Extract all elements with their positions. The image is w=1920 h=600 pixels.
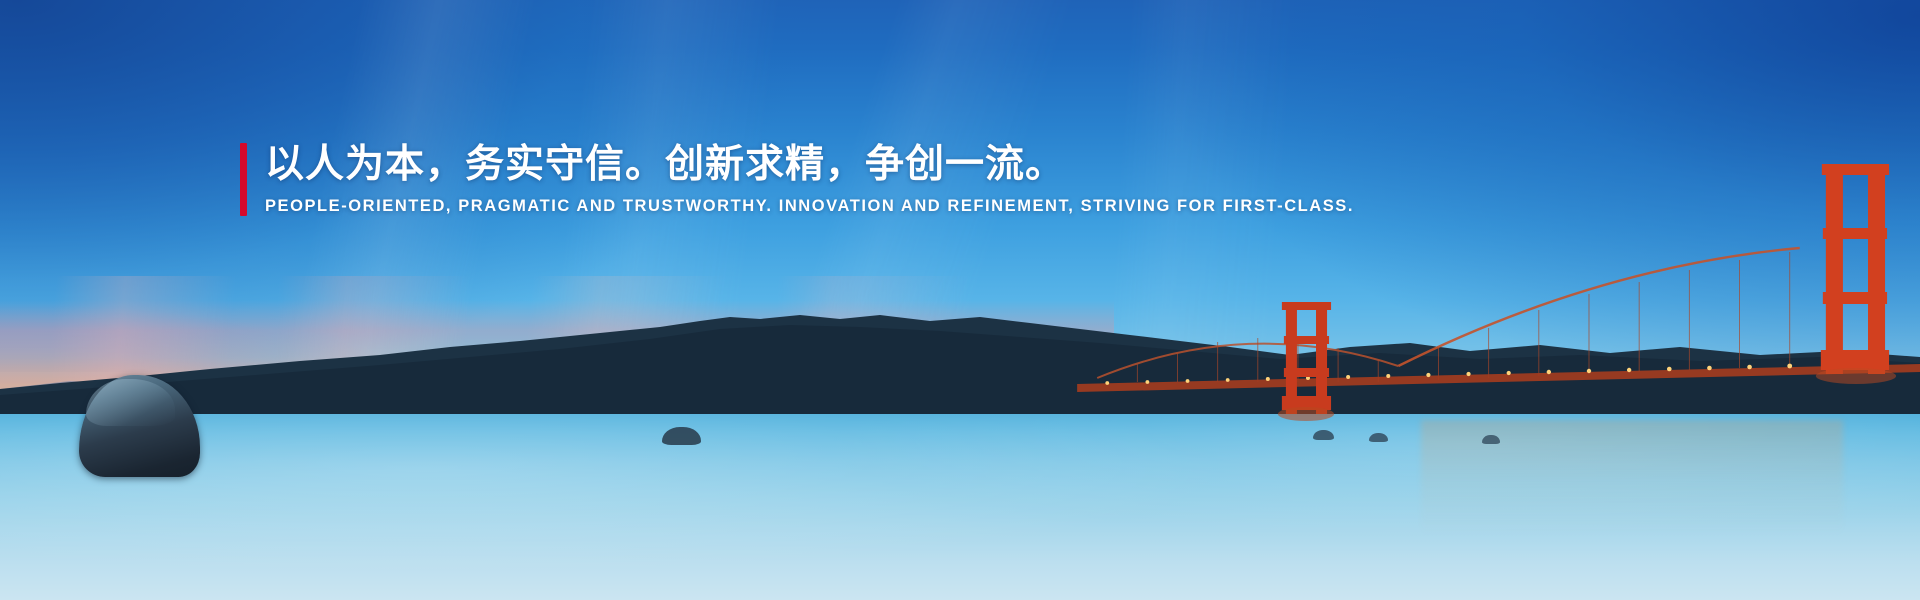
banner-headline: 以人为本，务实守信。创新求精，争创一流。 (265, 143, 1354, 187)
banner-text-lines: 以人为本，务实守信。创新求精，争创一流。 PEOPLE-ORIENTED, PR… (265, 143, 1354, 216)
golden-gate-bridge (1037, 244, 1920, 430)
banner-text-block: 以人为本，务实守信。创新求精，争创一流。 PEOPLE-ORIENTED, PR… (240, 143, 1354, 216)
water-rock (1313, 430, 1334, 440)
banner-subtitle: PEOPLE-ORIENTED, PRAGMATIC AND TRUSTWORT… (265, 197, 1354, 216)
water-rock (1482, 435, 1499, 444)
red-accent-bar (240, 143, 247, 216)
hero-banner: 以人为本，务实守信。创新求精，争创一流。 PEOPLE-ORIENTED, PR… (0, 0, 1920, 600)
